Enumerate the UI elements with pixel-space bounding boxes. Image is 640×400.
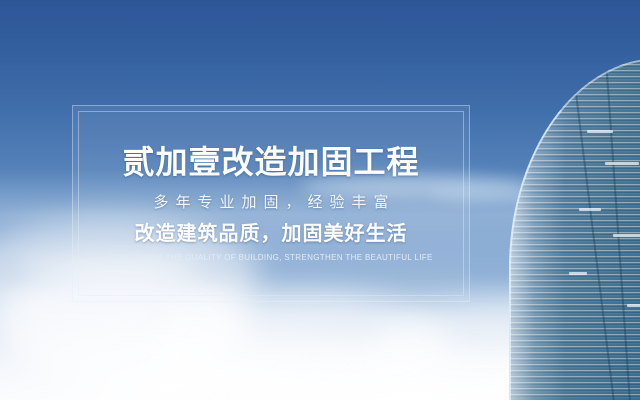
hero-english-tagline: TRANSFORM THE QUALITY OF BUILDING, STREN… [109,254,432,262]
hero-tagline: 改造建筑品质，加固美好生活 [135,224,408,244]
hero-banner: 贰加壹改造加固工程 多年专业加固，经验丰富 改造建筑品质，加固美好生活 TRAN… [0,0,640,400]
hero-subtitle: 多年专业加固，经验丰富 [146,195,395,210]
hero-text-panel: 贰加壹改造加固工程 多年专业加固，经验丰富 改造建筑品质，加固美好生活 TRAN… [72,105,470,302]
hero-panel-content: 贰加壹改造加固工程 多年专业加固，经验丰富 改造建筑品质，加固美好生活 TRAN… [78,111,464,296]
hero-title: 贰加壹改造加固工程 [122,146,419,178]
curved-glass-tower [497,58,640,400]
tower-body [509,58,640,400]
